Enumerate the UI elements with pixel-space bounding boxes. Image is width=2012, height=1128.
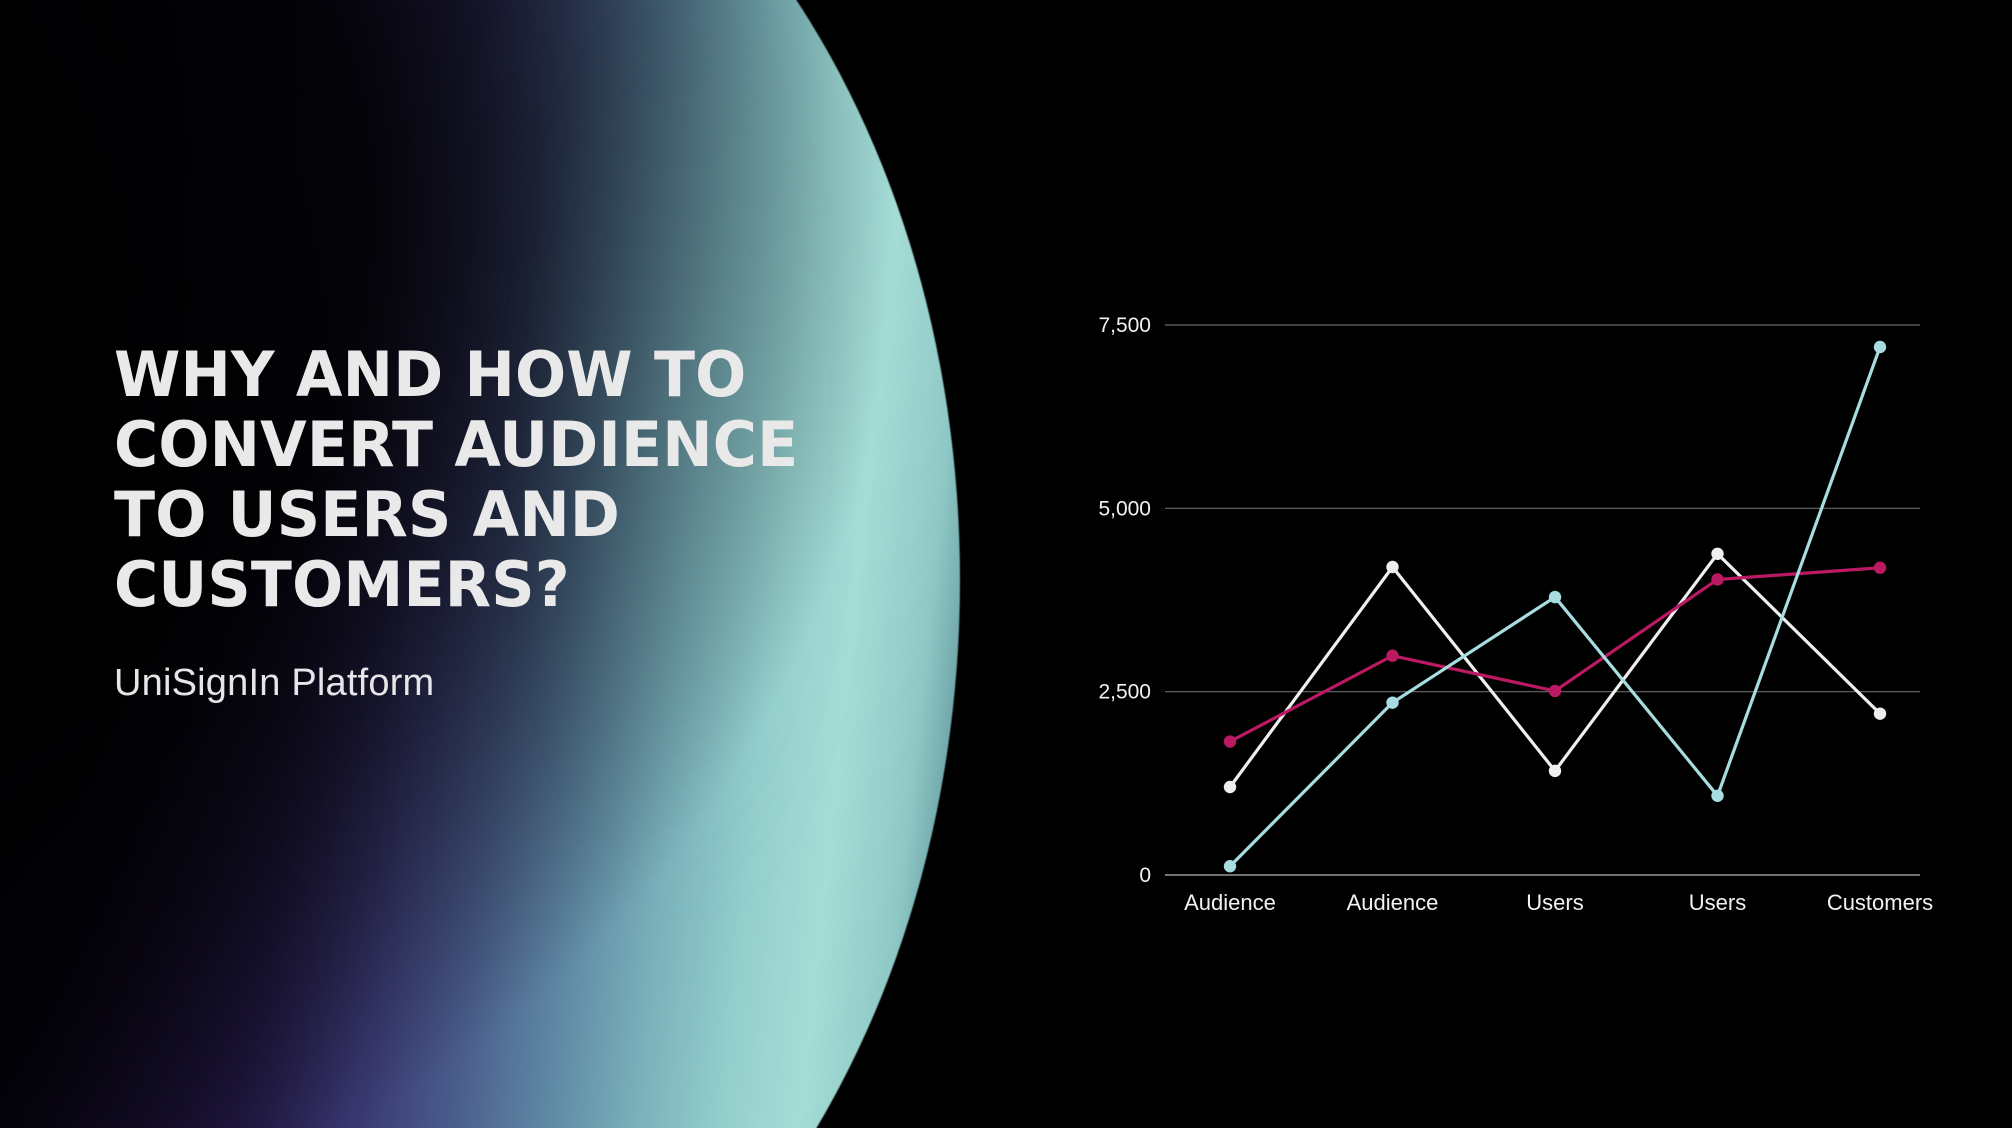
chart-canvas: 02,5005,0007,500 AudienceAudienceUsersUs… <box>1060 290 1940 950</box>
line-chart: 02,5005,0007,500 AudienceAudienceUsersUs… <box>1060 290 1940 950</box>
title-block: WHY AND HOW TO CONVERT AUDIENCE TO USERS… <box>114 340 934 705</box>
chart-data-point[interactable] <box>1874 707 1886 719</box>
page-subtitle: UniSignIn Platform <box>114 662 934 705</box>
chart-data-point[interactable] <box>1874 562 1886 574</box>
chart-y-axis-labels: 02,5005,0007,500 <box>1098 314 1151 887</box>
chart-data-point[interactable] <box>1224 781 1236 793</box>
chart-x-tick-label: Users <box>1526 890 1583 915</box>
chart-series-series-cyan <box>1230 347 1880 866</box>
chart-data-point[interactable] <box>1386 696 1398 708</box>
chart-y-tick-label: 5,000 <box>1098 497 1151 520</box>
chart-data-point[interactable] <box>1549 765 1561 777</box>
chart-data-point[interactable] <box>1711 573 1723 585</box>
chart-gridlines <box>1165 325 1920 692</box>
chart-data-point[interactable] <box>1386 561 1398 573</box>
chart-x-tick-label: Audience <box>1347 890 1439 915</box>
chart-data-point[interactable] <box>1224 860 1236 872</box>
chart-series-layer <box>1224 341 1886 873</box>
chart-data-point[interactable] <box>1224 735 1236 747</box>
chart-y-tick-label: 2,500 <box>1098 681 1151 704</box>
chart-data-point[interactable] <box>1711 548 1723 560</box>
chart-x-tick-label: Audience <box>1184 890 1276 915</box>
chart-y-tick-label: 7,500 <box>1098 314 1151 337</box>
chart-y-tick-label: 0 <box>1139 864 1151 887</box>
page-title: WHY AND HOW TO CONVERT AUDIENCE TO USERS… <box>114 340 909 620</box>
chart-data-point[interactable] <box>1874 341 1886 353</box>
chart-data-point[interactable] <box>1549 685 1561 697</box>
chart-series-series-white <box>1230 554 1880 787</box>
chart-data-point[interactable] <box>1386 650 1398 662</box>
chart-data-point[interactable] <box>1549 591 1561 603</box>
chart-x-axis-labels: AudienceAudienceUsersUsersCustomers <box>1184 890 1933 915</box>
chart-x-tick-label: Users <box>1689 890 1746 915</box>
chart-data-point[interactable] <box>1711 790 1723 802</box>
chart-x-tick-label: Customers <box>1827 890 1933 915</box>
